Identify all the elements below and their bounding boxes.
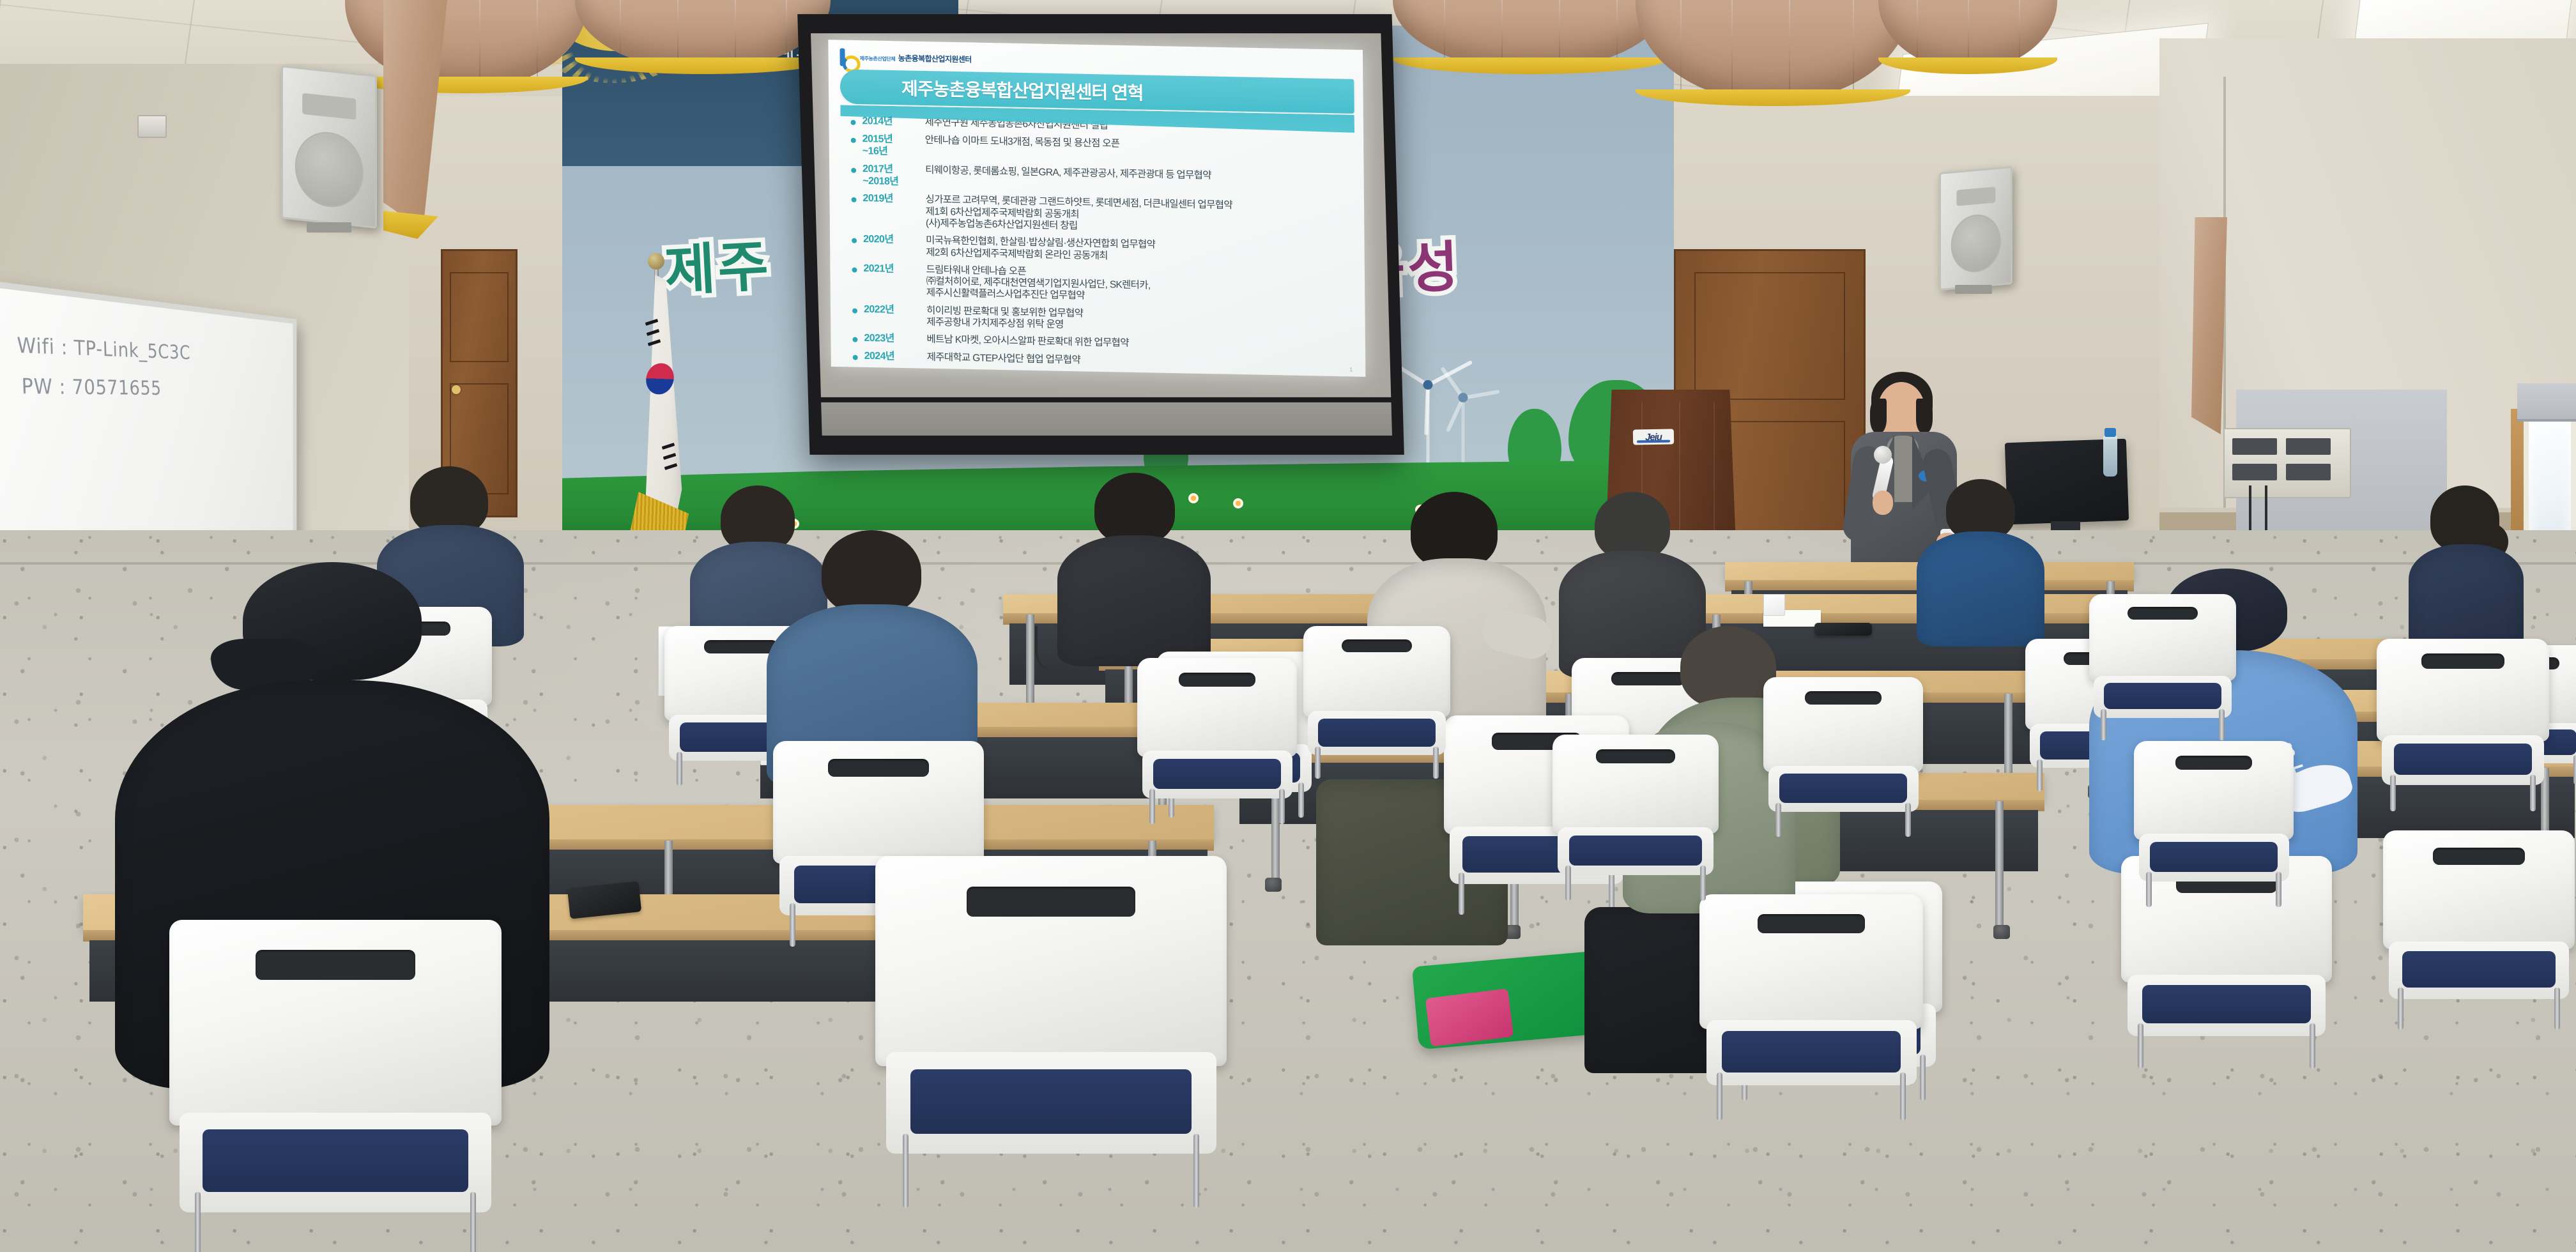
chair-empty[interactable] bbox=[1303, 626, 1450, 773]
presenter-hair-side bbox=[1916, 399, 1933, 433]
attendee bbox=[2409, 485, 2524, 645]
chair-empty[interactable] bbox=[1137, 658, 1297, 818]
speaker-bracket bbox=[1955, 285, 1992, 294]
attendee bbox=[1057, 473, 1211, 664]
whiteboard-line-2: PW : 70571655 bbox=[21, 366, 191, 406]
timeline-year: 2017년~2018년 bbox=[850, 163, 925, 188]
timeline-year: 2021년 bbox=[850, 263, 926, 299]
chair-empty[interactable] bbox=[2089, 594, 2236, 735]
timeline-body: 티웨이항공, 롯데롬쇼핑, 일본GRA, 제주관광공사, 제주관광대 등 업무협… bbox=[925, 165, 1355, 197]
timeline-line: 제주대학교 GTEP사업단 협업 업무협약 bbox=[927, 352, 1357, 372]
timeline-body: 드림타워내 안테나숍 오픈㈜컬처히어로, 제주대천연염색기업지원사업단, SK렌… bbox=[926, 264, 1356, 308]
chair-foreground[interactable] bbox=[169, 920, 502, 1252]
slide-title: 제주농촌융복합산업지원센터 연혁 bbox=[901, 75, 1144, 105]
wall-speaker-right bbox=[1939, 166, 2012, 291]
timeline-year-sub: ~16년 bbox=[862, 146, 925, 159]
timeline-year: 2015년~16년 bbox=[850, 134, 925, 159]
timeline-body: 안테나숍 이마트 도내3개점, 목동점 및 용산점 오픈 bbox=[925, 135, 1355, 167]
podium-logo-text: Jeju bbox=[1645, 431, 1662, 442]
timeline-row: 2021년드림타워내 안테나숍 오픈㈜컬처히어로, 제주대천연염색기업지원사업단… bbox=[850, 263, 1356, 307]
curtain-valance bbox=[1393, 0, 1667, 70]
microphone-head-icon bbox=[1874, 446, 1892, 464]
chair-empty[interactable] bbox=[2134, 741, 2294, 901]
door-knob-icon[interactable] bbox=[452, 385, 461, 394]
timeline-body: 베트남 K마켓, 오아시스알파 판로확대 위한 업무협약 bbox=[926, 334, 1356, 355]
logo-line-1: 제주농촌산업단체 bbox=[860, 56, 896, 62]
wall-speaker-left bbox=[281, 65, 377, 229]
wall-control-box bbox=[137, 115, 167, 138]
projection-screen-surface: 제주농촌산업단체 농촌융복합산업지원센터 제주농촌융복합산업지원센터 연혁 20… bbox=[811, 33, 1391, 397]
timeline-line: 베트남 K마켓, 오아시스알파 판로확대 위한 업무협약 bbox=[926, 334, 1356, 354]
logo-line-2: 농촌융복합산업지원센터 bbox=[898, 54, 972, 64]
chair-empty[interactable] bbox=[875, 856, 1227, 1195]
slide-page-number: 1 bbox=[1349, 366, 1353, 372]
timeline-year-sub: ~2018년 bbox=[862, 176, 925, 189]
water-bottle-cap bbox=[2104, 428, 2116, 437]
timeline-row: 2015년~16년안테나숍 이마트 도내3개점, 목동점 및 용산점 오픈 bbox=[850, 134, 1355, 167]
flag-finial bbox=[648, 253, 664, 270]
whiteboard-notes: Wifi : TP-Link_5C3C PW : 70571655 bbox=[17, 322, 190, 410]
timeline-year: 2019년 bbox=[850, 193, 926, 229]
presenter-hand bbox=[1873, 491, 1893, 515]
timeline-body: 미국뉴욕한인협회, 한살림·밥상살림·생산자연합회 업무협약제2회 6차산업제주… bbox=[926, 235, 1356, 266]
timeline-row: 2022년히이리빙 판로확대 및 홍보위한 업무협약제주공항내 가치제주상점 위… bbox=[851, 303, 1356, 337]
timeline-year: 2024년 bbox=[852, 351, 927, 364]
curtain-valance bbox=[575, 0, 831, 70]
speaker-bracket bbox=[307, 222, 351, 233]
timeline-year: 2020년 bbox=[850, 234, 926, 259]
timeline-line: 티웨이항공, 롯데롬쇼핑, 일본GRA, 제주관광공사, 제주관광대 등 업무협… bbox=[925, 165, 1355, 185]
timeline-row: 2017년~2018년티웨이항공, 롯데롬쇼핑, 일본GRA, 제주관광공사, … bbox=[850, 163, 1355, 197]
small-white-box bbox=[1763, 594, 1785, 616]
logo-b-mark-icon bbox=[839, 48, 856, 66]
attendee bbox=[1917, 479, 2044, 645]
chair-empty[interactable] bbox=[2383, 830, 2575, 1022]
water-bottle bbox=[2103, 434, 2117, 477]
timeline-row: 2019년싱가포르 고려무역, 롯데관광 그랜드하얏트, 롯데면세점, 더큰내일… bbox=[850, 193, 1355, 238]
chair-empty[interactable] bbox=[1552, 735, 1719, 894]
slide-timeline-list: 2014년제주연구원 제주농업농촌6차산업지원센터 설립2015년~16년안테나… bbox=[840, 115, 1356, 372]
timeline-body: 싱가포르 고려무역, 롯데관광 그랜드하얏트, 롯데면세점, 더큰내일센터 업무… bbox=[926, 194, 1356, 238]
timeline-body: 제주대학교 GTEP사업단 협업 업무협약 bbox=[927, 352, 1357, 372]
timeline-row: 2024년제주대학교 GTEP사업단 협업 업무협약 bbox=[852, 351, 1357, 372]
presentation-slide: 제주농촌산업단체 농촌융복합산업지원센터 제주농촌융복합산업지원센터 연혁 20… bbox=[828, 40, 1365, 377]
chair[interactable] bbox=[1699, 894, 1923, 1111]
timeline-year: 2014년 bbox=[849, 116, 924, 129]
seminar-room-photo: 다함께 미래로 제주 육성 bbox=[0, 0, 2576, 1252]
chair-empty[interactable] bbox=[1763, 677, 1923, 830]
timeline-row: 2020년미국뉴욕한인협회, 한살림·밥상살림·생산자연합회 업무협약제2회 6… bbox=[850, 234, 1356, 267]
mural-flower bbox=[1233, 498, 1243, 508]
timeline-year: 2022년 bbox=[851, 303, 926, 328]
timeline-line: 안테나숍 이마트 도내3개점, 목동점 및 용산점 오픈 bbox=[925, 135, 1355, 155]
curtain-valance bbox=[1878, 0, 2057, 70]
chair-empty[interactable] bbox=[2377, 639, 2549, 805]
projection-screen-bottom-bar bbox=[821, 402, 1392, 436]
podium-jeju-logo: Jeju bbox=[1633, 429, 1674, 445]
timeline-body: 히이리빙 판로확대 및 홍보위한 업무협약제주공항내 가치제주상점 위탁 운영 bbox=[926, 305, 1356, 336]
timeline-year: 2023년 bbox=[851, 333, 926, 346]
whiteboard-line-1: Wifi : TP-Link_5C3C bbox=[17, 325, 191, 370]
window-roller-blind[interactable] bbox=[2517, 383, 2576, 422]
presenter-hair-side bbox=[1870, 399, 1887, 433]
timeline-row: 2023년베트남 K마켓, 오아시스알파 판로확대 위한 업무협약 bbox=[851, 333, 1356, 355]
projection-screen: 제주농촌산업단체 농촌융복합산업지원센터 제주농촌융복합산업지원센터 연혁 20… bbox=[797, 14, 1404, 455]
